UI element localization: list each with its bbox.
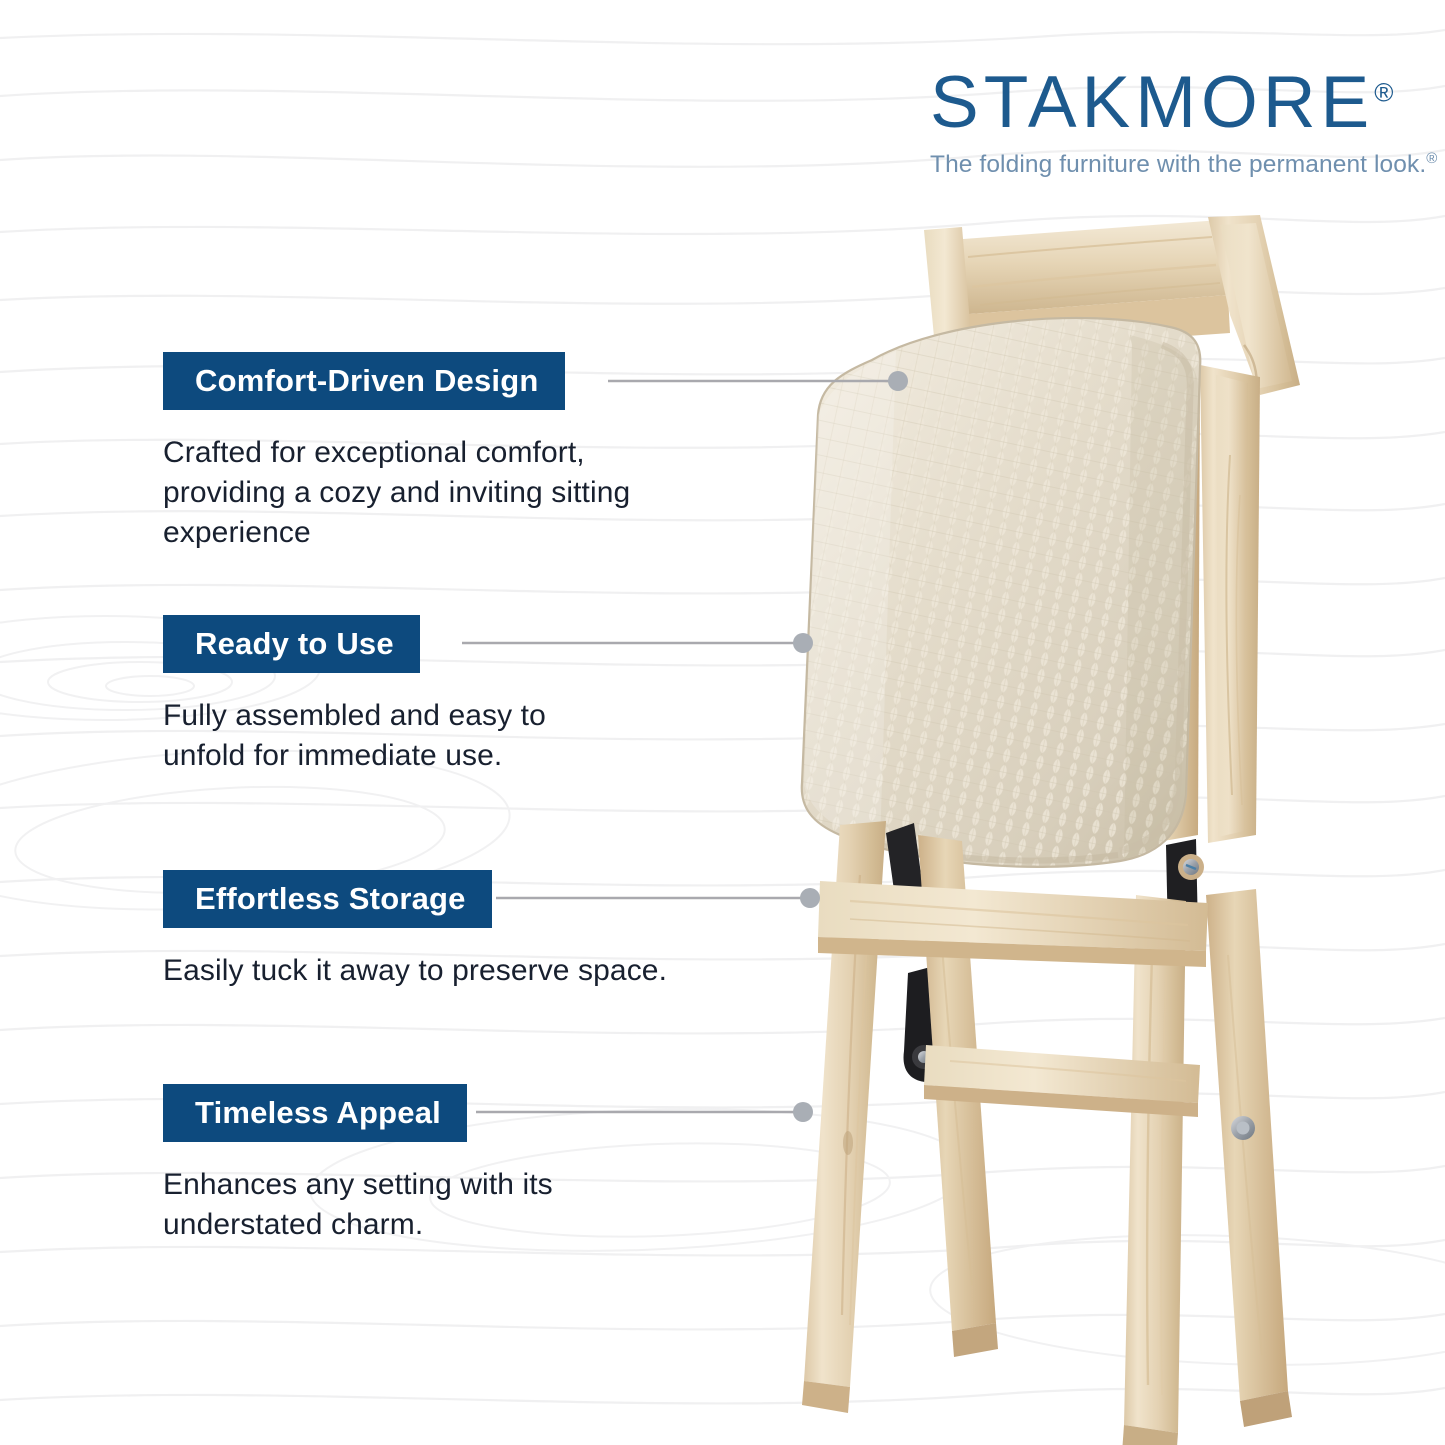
chair-right-front-leg — [1122, 895, 1186, 1445]
chair-right-back-post-long — [1200, 365, 1260, 843]
feature-description: Fully assembled and easy to unfold for i… — [163, 696, 546, 776]
brand-name-text: STAKMORE — [930, 62, 1374, 143]
feature-callout-effortless-storage: Effortless Storage Easily tuck it away t… — [163, 870, 667, 991]
feature-description: Enhances any setting with its understate… — [163, 1165, 553, 1245]
feature-description: Easily tuck it away to preserve space. — [163, 951, 667, 991]
chair-upper-stretcher-rail — [818, 881, 1208, 967]
feature-callout-timeless-appeal: Timeless Appeal Enhances any setting wit… — [163, 1084, 553, 1245]
chair-right-rear-leg — [1206, 889, 1292, 1427]
infographic-canvas: STAKMORE® The folding furniture with the… — [0, 0, 1445, 1445]
product-image-folding-chair — [700, 195, 1340, 1445]
feature-badge-title[interactable]: Ready to Use — [163, 615, 420, 673]
feature-callout-comfort-driven-design: Comfort-Driven Design Crafted for except… — [163, 352, 630, 553]
brand-wordmark: STAKMORE® — [930, 66, 1393, 139]
tagline-trademark-icon: ® — [1426, 150, 1437, 167]
feature-badge-title[interactable]: Comfort-Driven Design — [163, 352, 565, 410]
chair-seat-cushion — [802, 318, 1201, 867]
registered-trademark-icon: ® — [1374, 78, 1393, 108]
feature-badge-title[interactable]: Effortless Storage — [163, 870, 492, 928]
feature-callout-ready-to-use: Ready to Use Fully assembled and easy to… — [163, 615, 546, 776]
brand-logo: STAKMORE® The folding furniture with the… — [930, 66, 1385, 179]
brand-tagline-text: The folding furniture with the permanent… — [930, 151, 1426, 178]
brand-tagline: The folding furniture with the permanent… — [930, 150, 1385, 179]
feature-description: Crafted for exceptional comfort, providi… — [163, 433, 630, 553]
feature-badge-title[interactable]: Timeless Appeal — [163, 1084, 467, 1142]
